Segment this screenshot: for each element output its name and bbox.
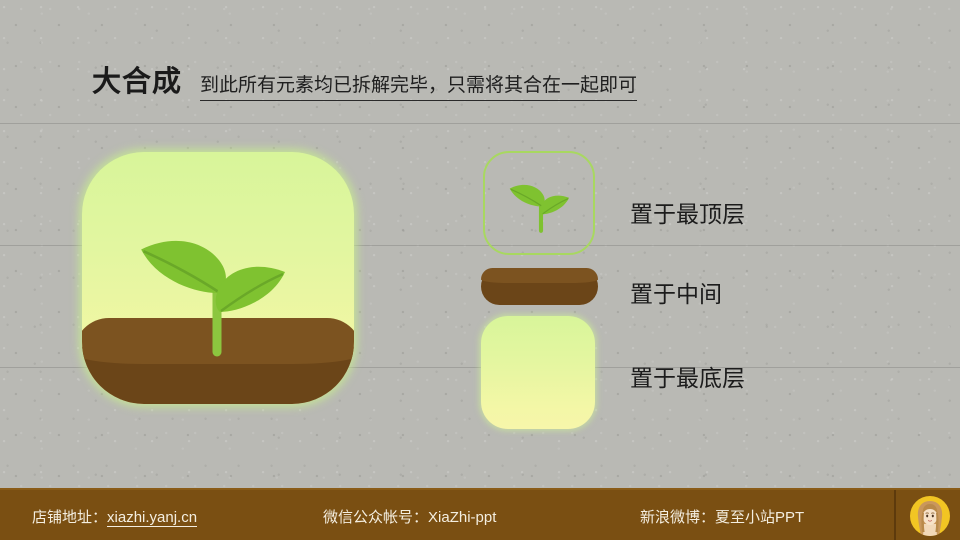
- page-title: 大合成: [92, 58, 182, 100]
- piece-sprout-outline: [483, 151, 595, 255]
- footer-divider: [894, 490, 896, 540]
- footer-weibo-value: 夏至小站PPT: [715, 506, 804, 527]
- avatar-face-icon: [910, 496, 950, 536]
- layer-label-middle: 置于中间: [630, 275, 722, 309]
- footer-weibo-label: 新浪微博：: [640, 506, 715, 527]
- footer-wechat-label: 微信公众帐号：: [323, 506, 428, 527]
- layer-label-top: 置于最顶层: [630, 195, 745, 229]
- background-rule: [0, 123, 960, 124]
- page-subtitle: 到此所有元素均已拆解完毕，只需将其合在一起即可: [200, 70, 637, 101]
- slide-canvas: 大合成 到此所有元素均已拆解完毕，只需将其合在一起即可 置于最顶层 置于中间: [0, 0, 960, 540]
- piece-background-tile: [481, 316, 595, 429]
- footer-wechat-account: 微信公众帐号： XiaZhi-ppt: [323, 506, 496, 527]
- sprout-icon-small: [501, 173, 581, 239]
- footer-shop-url[interactable]: xiazhi.yanj.cn: [107, 509, 197, 527]
- footer-shop-label: 店铺地址：: [32, 506, 107, 527]
- footer-wechat-value: XiaZhi-ppt: [428, 509, 496, 526]
- piece-soil-pill: [481, 268, 598, 305]
- footer-bar: 店铺地址： xiazhi.yanj.cn 微信公众帐号： XiaZhi-ppt …: [0, 488, 960, 540]
- avatar: [910, 496, 950, 536]
- layer-label-bottom: 置于最底层: [630, 359, 745, 393]
- sprout-icon: [122, 212, 312, 372]
- footer-shop-address: 店铺地址： xiazhi.yanj.cn: [32, 506, 197, 527]
- composed-sprout-icon: [82, 152, 354, 404]
- slide-header: 大合成 到此所有元素均已拆解完毕，只需将其合在一起即可: [92, 58, 637, 101]
- footer-weibo-account: 新浪微博： 夏至小站PPT: [640, 506, 804, 527]
